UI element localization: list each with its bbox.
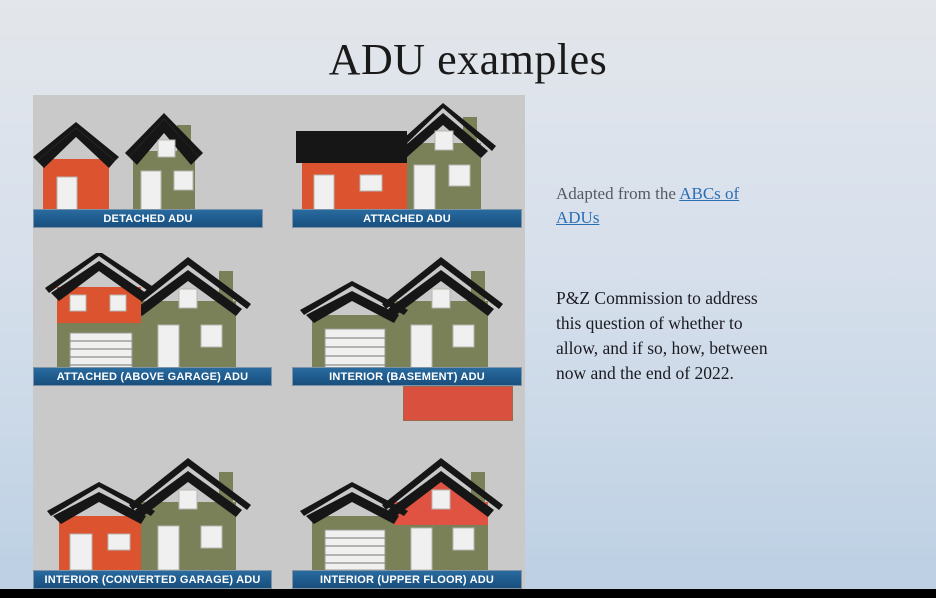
adu-cell-label: INTERIOR (BASEMENT) ADU	[329, 371, 485, 383]
adu-cell-label: ATTACHED ADU	[363, 213, 451, 225]
adu-cell-banner-above-garage: ATTACHED (ABOVE GARAGE) ADU	[33, 367, 272, 386]
adu-cell-above-garage: ATTACHED (ABOVE GARAGE) ADU	[33, 253, 272, 386]
basement-adu-block	[403, 386, 513, 421]
adu-cell-banner-basement: INTERIOR (BASEMENT) ADU	[292, 367, 522, 386]
right-text-column: Adapted from the ABCs of ADUs P&Z Commis…	[556, 182, 771, 386]
source-credit-prefix: Adapted from the	[556, 184, 679, 203]
adu-examples-figure: DETACHED ADU ATTACHED	[33, 95, 525, 589]
upper-floor-adu-illustration	[292, 450, 522, 589]
page-title: ADU examples	[0, 34, 936, 85]
adu-cell-label: ATTACHED (ABOVE GARAGE) ADU	[57, 371, 249, 383]
adu-cell-label: INTERIOR (CONVERTED GARAGE) ADU	[44, 574, 260, 586]
adu-cell-detached: DETACHED ADU	[33, 95, 263, 228]
commission-note: P&Z Commission to address this question …	[556, 286, 771, 386]
adu-cell-banner-attached: ATTACHED ADU	[292, 209, 522, 228]
slide: ADU examples DETACHED ADU	[0, 0, 936, 598]
source-credit: Adapted from the ABCs of ADUs	[556, 182, 771, 230]
adu-cell-banner-upper-floor: INTERIOR (UPPER FLOOR) ADU	[292, 570, 522, 589]
slide-bottom-bar	[0, 589, 936, 598]
adu-cell-label: INTERIOR (UPPER FLOOR) ADU	[320, 574, 494, 586]
adu-cell-upper-floor: INTERIOR (UPPER FLOOR) ADU	[292, 450, 522, 589]
adu-cell-banner-detached: DETACHED ADU	[33, 209, 263, 228]
converted-garage-adu-illustration	[33, 450, 272, 589]
adu-cell-banner-converted-garage: INTERIOR (CONVERTED GARAGE) ADU	[33, 570, 272, 589]
adu-cell-label: DETACHED ADU	[103, 213, 192, 225]
adu-cell-converted-garage: INTERIOR (CONVERTED GARAGE) ADU	[33, 450, 272, 589]
adu-cell-attached: ATTACHED ADU	[292, 95, 522, 228]
adu-cell-basement: INTERIOR (BASEMENT) ADU	[292, 253, 522, 386]
